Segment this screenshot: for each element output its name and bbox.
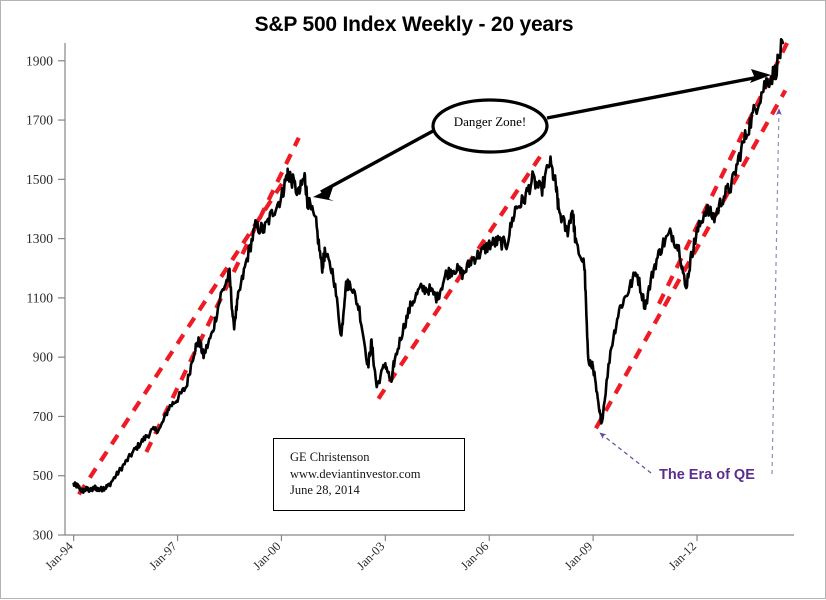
x-tick-label: Jan-09 [562, 539, 595, 572]
y-tick-label: 500 [33, 468, 54, 483]
era-of-qe-label: The Era of QE [659, 467, 755, 483]
x-tick-label-group: Jan-94Jan-97Jan-00Jan-03Jan-06Jan-09Jan-… [42, 539, 699, 573]
y-tick-label-group: 30050070090011001300150017001900 [26, 53, 53, 542]
x-tick-label: Jan-97 [146, 539, 179, 572]
y-tick-label: 300 [33, 528, 54, 543]
credit-author: GE Christenson [290, 449, 464, 466]
x-tick-label: Jan-94 [42, 539, 76, 573]
chart-page: S&P 500 Index Weekly - 20 years 30050070… [0, 0, 826, 599]
y-tick-label: 1100 [27, 290, 54, 305]
y-tick-label: 700 [33, 409, 54, 424]
qe-arrow-left [600, 433, 651, 473]
y-tick-label: 1900 [26, 53, 53, 68]
credit-date: June 28, 2014 [290, 482, 464, 499]
credit-website: www.deviantinvestor.com [290, 466, 464, 483]
x-tick-group [74, 535, 697, 541]
danger-zone-arrow-left [321, 131, 433, 192]
x-tick-label: Jan-12 [666, 539, 699, 572]
y-tick-label: 1700 [26, 113, 53, 128]
qe-arrow-right [772, 109, 779, 474]
y-tick-group [58, 61, 65, 535]
y-tick-label: 1500 [26, 172, 53, 187]
qe-annotation-arrows [600, 109, 779, 474]
danger-zone-ellipse [433, 100, 547, 152]
credit-box: GE Christenson www.deviantinvestor.com J… [273, 438, 465, 511]
x-tick-label: Jan-03 [354, 539, 387, 572]
x-tick-label: Jan-06 [458, 539, 491, 572]
y-tick-label: 1300 [26, 231, 53, 246]
y-tick-label: 900 [33, 350, 54, 365]
danger-zone-arrow-right [547, 77, 759, 118]
x-tick-label: Jan-00 [250, 539, 283, 572]
